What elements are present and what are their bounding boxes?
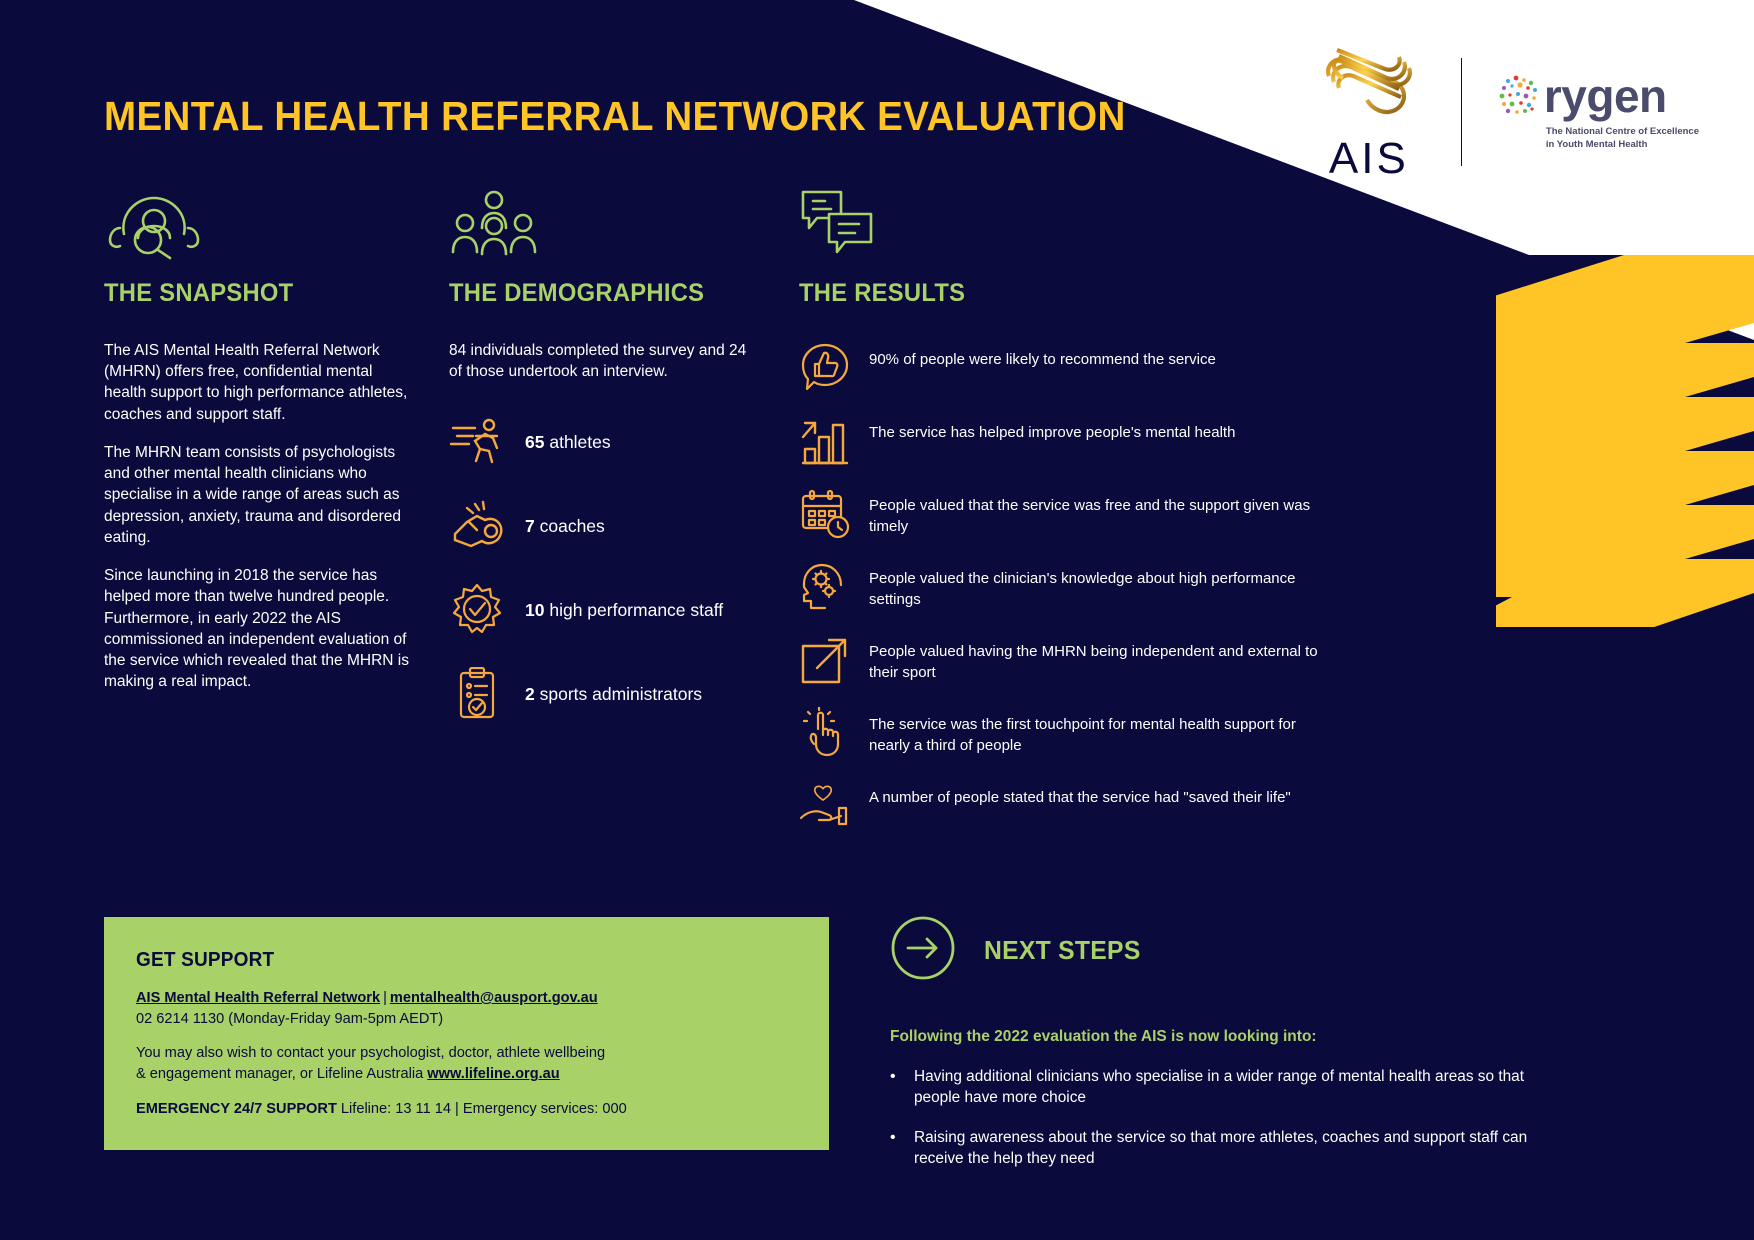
- lifeline-url-link[interactable]: www.lifeline.org.au: [427, 1066, 559, 1082]
- demographics-intro: 84 individuals completed the survey and …: [449, 340, 749, 382]
- badge-check-icon: [449, 583, 505, 637]
- stat-hp-staff-label: 10 high performance staff: [525, 600, 723, 622]
- next-steps-header: NEXT STEPS: [890, 915, 1530, 986]
- results-column: THE RESULTS 90% of people were likely to…: [799, 188, 1339, 851]
- support-separator: |: [380, 990, 390, 1006]
- stat-athletes-value: 65: [525, 432, 544, 452]
- yellow-chevron-stripes: [1434, 255, 1754, 675]
- result-item-text: People valued having the MHRN being inde…: [869, 632, 1339, 683]
- running-athlete-icon: [449, 416, 505, 468]
- get-support-box: GET SUPPORT AIS Mental Health Referral N…: [104, 917, 829, 1150]
- stat-coaches-unit: coaches: [540, 516, 605, 536]
- bullet-icon: •: [890, 1066, 898, 1109]
- result-item: The service was the first touchpoint for…: [799, 705, 1339, 759]
- emergency-text: Lifeline: 13 11 14 | Emergency services:…: [337, 1101, 627, 1117]
- speech-bubbles-icon: [799, 188, 1339, 265]
- stat-sports-admin-value: 2: [525, 684, 535, 704]
- orygen-tagline-line1: The National Centre of Excellence: [1546, 126, 1699, 137]
- snapshot-heading: THE SNAPSHOT: [104, 279, 399, 308]
- result-item: People valued having the MHRN being inde…: [799, 632, 1339, 686]
- result-item-text: The service has helped improve people's …: [869, 413, 1235, 444]
- person-magnifier-icon: [104, 188, 414, 265]
- bar-chart-arrow-icon: [799, 413, 851, 467]
- ais-mark-icon: [1317, 42, 1421, 134]
- next-steps-section: NEXT STEPS Following the 2022 evaluation…: [890, 915, 1530, 1187]
- support-contact-line: AIS Mental Health Referral Network|menta…: [136, 988, 797, 1009]
- hand-heart-icon: [799, 778, 851, 832]
- orygen-logo: rygen The National Centre of Excellence …: [1494, 71, 1699, 152]
- orygen-logo-text: rygen: [1544, 73, 1667, 119]
- mhrn-link[interactable]: AIS Mental Health Referral Network: [136, 990, 380, 1006]
- infographic-poster: MENTAL HEALTH REFERRAL NETWORK EVALUATIO…: [0, 0, 1754, 1240]
- calendar-clock-icon: [799, 486, 851, 540]
- snapshot-paragraph-1: The AIS Mental Health Referral Network (…: [104, 340, 414, 425]
- support-email-link[interactable]: mentalhealth@ausport.gov.au: [390, 990, 598, 1006]
- stat-coaches-label: 7 coaches: [525, 516, 605, 538]
- arrow-circle-right-icon: [890, 915, 956, 986]
- result-item: People valued the clinician's knowledge …: [799, 559, 1339, 613]
- support-contact-block: AIS Mental Health Referral Network|menta…: [136, 988, 797, 1029]
- result-item-text: People valued that the service was free …: [869, 486, 1339, 537]
- snapshot-column: THE SNAPSHOT The AIS Mental Health Refer…: [104, 188, 414, 710]
- stat-high-performance-staff: 10 high performance staff: [449, 582, 749, 638]
- get-support-title: GET SUPPORT: [136, 949, 764, 972]
- stat-sports-admin-label: 2 sports administrators: [525, 684, 702, 706]
- next-steps-list: • Having additional clinicians who speci…: [890, 1066, 1530, 1169]
- stat-athletes: 65 athletes: [449, 414, 749, 470]
- result-item-text: The service was the first touchpoint for…: [869, 705, 1339, 756]
- result-item: A number of people stated that the servi…: [799, 778, 1339, 832]
- page-title: MENTAL HEALTH REFERRAL NETWORK EVALUATIO…: [104, 93, 1126, 140]
- list-item-text: Raising awareness about the service so t…: [914, 1127, 1530, 1170]
- support-extra-block: You may also wish to contact your psycho…: [136, 1043, 797, 1084]
- list-item-text: Having additional clinicians who special…: [914, 1066, 1530, 1109]
- support-extra-line-2: & engagement manager, or Lifeline Austra…: [136, 1064, 797, 1085]
- tap-finger-icon: [799, 705, 851, 759]
- logo-divider: [1461, 58, 1462, 166]
- orygen-dots-icon: [1494, 71, 1544, 121]
- demographics-column: THE DEMOGRAPHICS 84 individuals complete…: [449, 188, 749, 750]
- results-heading: THE RESULTS: [799, 279, 1312, 308]
- stat-hp-staff-value: 10: [525, 600, 544, 620]
- stat-sports-administrators: 2 sports administrators: [449, 666, 749, 722]
- result-item-text: A number of people stated that the servi…: [869, 778, 1291, 809]
- head-gears-icon: [799, 559, 851, 613]
- stat-hp-staff-unit: high performance staff: [549, 600, 723, 620]
- stat-coaches: 7 coaches: [449, 498, 749, 554]
- stat-athletes-label: 65 athletes: [525, 432, 611, 454]
- emergency-line: EMERGENCY 24/7 SUPPORT Lifeline: 13 11 1…: [136, 1099, 797, 1120]
- list-item: • Having additional clinicians who speci…: [890, 1066, 1530, 1109]
- bullet-icon: •: [890, 1127, 898, 1170]
- next-steps-intro: Following the 2022 evaluation the AIS is…: [890, 1028, 1530, 1046]
- ais-logo: AIS: [1309, 42, 1429, 181]
- snapshot-paragraph-3: Since launching in 2018 the service has …: [104, 565, 414, 692]
- list-item: • Raising awareness about the service so…: [890, 1127, 1530, 1170]
- result-item: 90% of people were likely to recommend t…: [799, 340, 1339, 394]
- support-extra-prefix: & engagement manager, or Lifeline Austra…: [136, 1066, 427, 1082]
- next-steps-title: NEXT STEPS: [984, 935, 1141, 966]
- result-item-text: People valued the clinician's knowledge …: [869, 559, 1339, 610]
- result-item: The service has helped improve people's …: [799, 413, 1339, 467]
- whistle-icon: [449, 500, 505, 552]
- external-link-arrow-icon: [799, 632, 851, 686]
- ais-logo-text: AIS: [1309, 137, 1429, 181]
- stat-sports-admin-unit: sports administrators: [540, 684, 702, 704]
- emergency-label: EMERGENCY 24/7 SUPPORT: [136, 1101, 337, 1117]
- stat-athletes-unit: athletes: [549, 432, 610, 452]
- snapshot-paragraph-2: The MHRN team consists of psychologists …: [104, 442, 414, 548]
- logo-group: AIS: [1309, 42, 1699, 181]
- support-extra-line-1: You may also wish to contact your psycho…: [136, 1043, 797, 1064]
- support-phone-line: 02 6214 1130 (Monday-Friday 9am-5pm AEDT…: [136, 1009, 797, 1030]
- result-item-text: 90% of people were likely to recommend t…: [869, 340, 1216, 371]
- result-item: People valued that the service was free …: [799, 486, 1339, 540]
- thumbs-up-bubble-icon: [799, 340, 851, 394]
- demographics-heading: THE DEMOGRAPHICS: [449, 279, 734, 308]
- orygen-tagline: The National Centre of Excellence in You…: [1546, 126, 1699, 152]
- group-people-icon: [449, 188, 749, 265]
- stat-coaches-value: 7: [525, 516, 535, 536]
- orygen-tagline-line2: in Youth Mental Health: [1546, 139, 1648, 150]
- clipboard-check-icon: [449, 667, 505, 721]
